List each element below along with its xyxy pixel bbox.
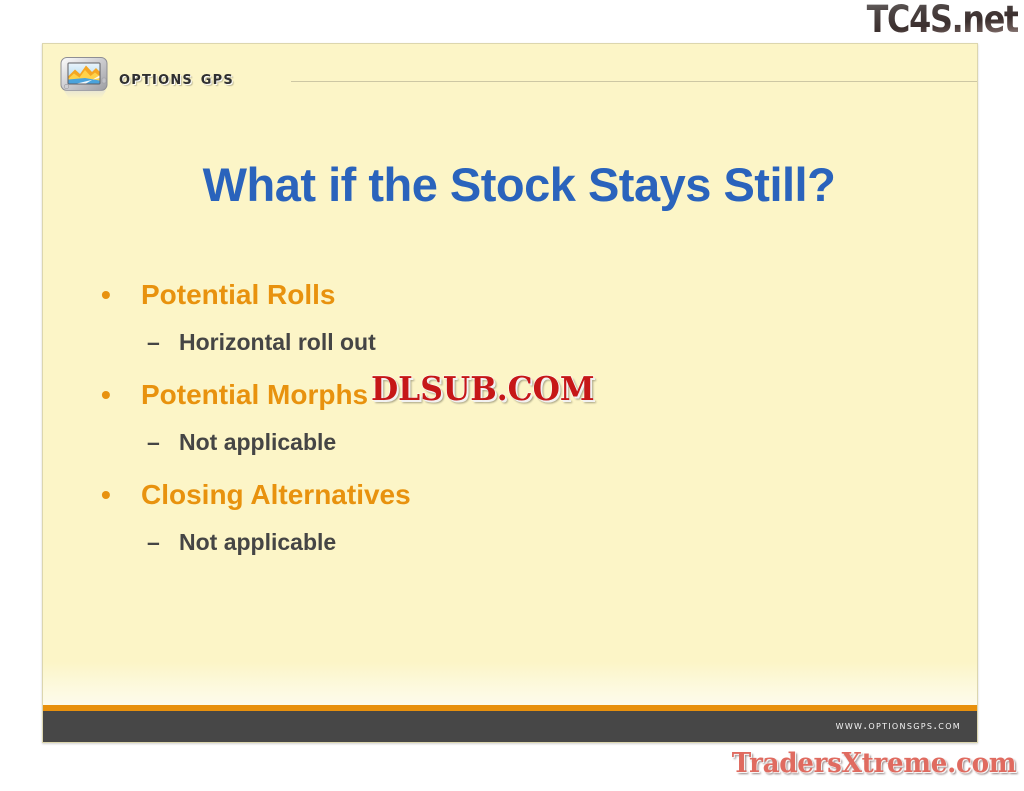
bullet-level1: • Closing Alternatives	[43, 470, 977, 519]
tradersxtreme-watermark: TradersXtreme.com	[732, 748, 1016, 779]
header-divider	[291, 81, 977, 82]
bullet-level2: – Not applicable	[43, 419, 977, 466]
slide-footer: www.OptionsGPS.com	[43, 711, 977, 742]
bullet-level1-label: Potential Morphs	[141, 379, 368, 410]
bullet-list: • Potential Rolls – Horizontal roll out …	[43, 270, 977, 570]
bullet-dot-icon: •	[101, 470, 111, 519]
bullet-dash-icon: –	[147, 319, 160, 366]
bullet-level1-label: Potential Rolls	[141, 279, 335, 310]
bullet-dash-icon: –	[147, 419, 160, 466]
slide-header: Options GPS	[43, 44, 977, 106]
footer-url-label: www.OptionsGPS.com	[836, 718, 961, 732]
bullet-group: • Potential Rolls – Horizontal roll out	[43, 270, 977, 366]
bullet-level2-label: Not applicable	[179, 529, 336, 555]
bullet-level2-label: Not applicable	[179, 429, 336, 455]
bullet-level1: • Potential Rolls	[43, 270, 977, 319]
bullet-level2: – Horizontal roll out	[43, 319, 977, 366]
bullet-level2-label: Horizontal roll out	[179, 329, 376, 355]
bullet-group: • Closing Alternatives – Not applicable	[43, 470, 977, 566]
footer-gradient	[43, 662, 977, 706]
gps-device-icon	[59, 56, 111, 102]
tc4s-site-watermark: TC4S.net	[867, 0, 1018, 41]
bullet-dash-icon: –	[147, 519, 160, 566]
bullet-level2: – Not applicable	[43, 519, 977, 566]
slide-title: What if the Stock Stays Still?	[79, 159, 959, 211]
dlsub-watermark: DLSUB.COM	[371, 369, 595, 408]
bullet-dot-icon: •	[101, 370, 111, 419]
bullet-level1-label: Closing Alternatives	[141, 479, 411, 510]
brand-wordmark: Options GPS	[119, 67, 234, 89]
bullet-dot-icon: •	[101, 270, 111, 319]
